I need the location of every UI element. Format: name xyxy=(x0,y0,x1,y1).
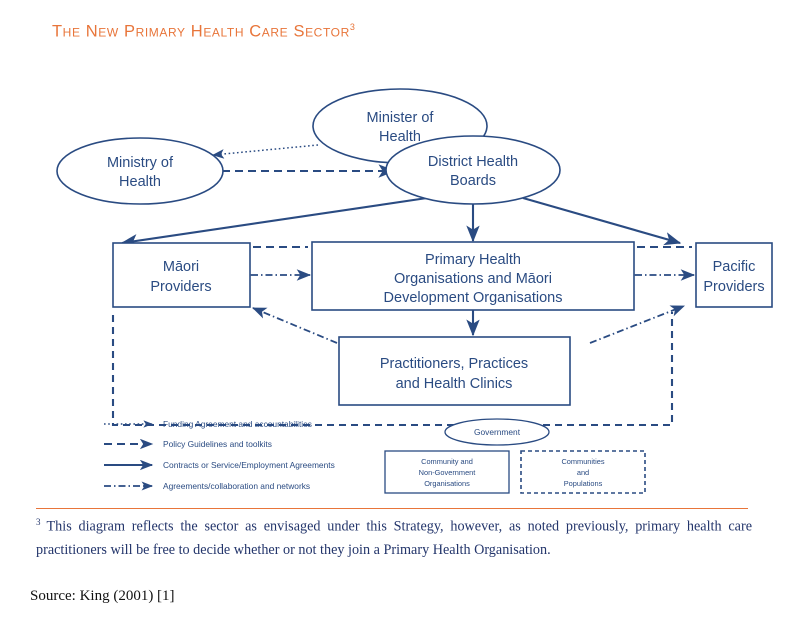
legend-shape-community-ngo-line2: Non-Government xyxy=(419,468,476,477)
legend-shape-government-label: Government xyxy=(474,427,521,437)
legend-shape-communities-line2: and xyxy=(577,468,589,477)
legend-item-policy-guidelines-label: Policy Guidelines and toolkits xyxy=(163,439,272,449)
footnote: 3This diagram reflects the sector as env… xyxy=(36,515,752,562)
node-pacific-providers-line2: Providers xyxy=(703,279,764,295)
footnote-divider xyxy=(36,508,748,509)
legend-item-contracts: Contracts or Service/Employment Agreemen… xyxy=(104,460,335,470)
node-maori-providers[interactable]: Māori Providers xyxy=(113,243,250,307)
node-ministry-of-health-line1: Ministry of xyxy=(107,155,174,171)
figure-title: The New Primary Health Care Sector3 xyxy=(52,22,355,42)
health-sector-diagram: Minister of Health Ministry of Health Di… xyxy=(0,40,785,500)
node-minister-of-health-line2: Health xyxy=(379,129,421,145)
node-district-health-boards-line1: District Health xyxy=(428,154,518,170)
legend-item-funding-agreement-label: Funding Agreement and accountabilities xyxy=(163,419,312,429)
node-maori-providers-line2: Providers xyxy=(150,279,211,295)
connector-dhb-to-maori xyxy=(122,198,427,243)
legend-item-agreements-collaboration-label: Agreements/collaboration and networks xyxy=(163,481,310,491)
figure-title-footnote-marker: 3 xyxy=(350,22,356,32)
node-practitioners[interactable]: Practitioners, Practices and Health Clin… xyxy=(339,337,570,405)
node-maori-providers-line1: Māori xyxy=(163,259,199,275)
legend-shape-community-ngo-line3: Organisations xyxy=(424,479,470,488)
legend-shape-communities-line3: Populations xyxy=(564,479,603,488)
legend-shape-government: Government xyxy=(445,419,549,445)
legend-shape-communities-populations: Communities and Populations xyxy=(521,451,645,493)
node-pho-line1: Primary Health xyxy=(425,252,521,268)
legend-item-contracts-label: Contracts or Service/Employment Agreemen… xyxy=(163,460,335,470)
node-pho-line3: Development Organisations xyxy=(384,290,563,306)
connector-practitioners-to-maori xyxy=(253,308,337,343)
source-citation: Source: King (2001) [1] xyxy=(30,588,175,605)
legend-item-policy-guidelines: Policy Guidelines and toolkits xyxy=(104,439,272,449)
connector-dhb-to-pacific xyxy=(523,198,680,243)
node-minister-of-health-line1: Minister of xyxy=(367,110,435,126)
legend-shape-community-ngo-line1: Community and xyxy=(421,457,473,466)
node-pho-line2: Organisations and Māori xyxy=(394,271,552,287)
legend-line-styles: Funding Agreement and accountabilities P… xyxy=(104,419,335,491)
node-pacific-providers-line1: Pacific xyxy=(713,259,756,275)
legend-shape-community-ngo: Community and Non-Government Organisatio… xyxy=(385,451,509,493)
figure-title-text: The New Primary Health Care Sector xyxy=(52,23,350,41)
footnote-marker: 3 xyxy=(36,517,41,527)
connector-minister-to-ministry xyxy=(213,145,318,155)
node-ministry-of-health[interactable]: Ministry of Health xyxy=(57,138,223,204)
connector-practitioners-to-pacific xyxy=(590,306,684,343)
legend-shape-communities-line1: Communities xyxy=(561,457,604,466)
legend-shape-key: Government Community and Non-Government … xyxy=(385,419,645,493)
node-practitioners-line1: Practitioners, Practices xyxy=(380,356,528,372)
footnote-text: This diagram reflects the sector as envi… xyxy=(36,519,752,558)
figure-container: The New Primary Health Care Sector3 xyxy=(0,0,785,643)
node-practitioners-line2: and Health Clinics xyxy=(396,376,513,392)
legend-item-agreements-collaboration: Agreements/collaboration and networks xyxy=(104,481,310,491)
node-district-health-boards[interactable]: District Health Boards xyxy=(386,136,560,204)
node-district-health-boards-line2: Boards xyxy=(450,173,496,189)
node-primary-health-organisations[interactable]: Primary Health Organisations and Māori D… xyxy=(312,242,634,310)
node-pacific-providers[interactable]: Pacific Providers xyxy=(696,243,772,307)
node-ministry-of-health-line2: Health xyxy=(119,174,161,190)
